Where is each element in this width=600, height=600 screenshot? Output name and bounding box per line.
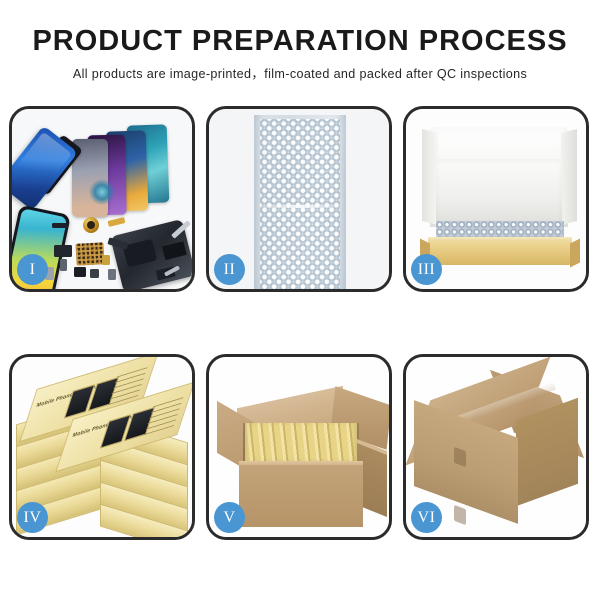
process-steps-grid: I II III [0,106,600,540]
step-panel-6: VI [403,354,589,540]
part-gold-contact-icon [102,255,110,265]
foam-insert-icon [436,159,562,221]
page-subtitle: All products are image-printed，film-coat… [0,63,600,82]
step-badge-5: V [214,502,245,533]
step-image-4: Mobile Phone Spare Parts Mobile Phone Sp… [12,357,192,537]
chip-array-icon [75,242,104,265]
step-badge-4: IV [17,502,48,533]
step-badge-2: II [214,254,245,285]
part-button-icon [60,259,67,271]
part-connector-icon [52,223,68,228]
step-image-3: III [406,109,586,289]
bubble-wrap-pouch-icon [254,115,346,289]
part-camera-icon [74,267,86,277]
step-panel-3: III [403,106,589,292]
pouch-seam [258,205,342,208]
camera-module-icon [83,217,99,233]
part-bracket-icon [54,245,72,257]
step-image-2: II [209,109,389,289]
page-title: PRODUCT PREPARATION PROCESS [0,26,600,56]
step-panel-5: V [206,354,392,540]
step-badge-6: VI [411,502,442,533]
carton-front-panel [239,465,363,527]
step-image-5: V [209,357,389,537]
box-spec-lines [144,395,184,435]
step-badge-1: I [17,254,48,285]
step-panel-2: II [206,106,392,292]
pouch-edge-right [337,115,346,289]
pouch-edge-left [254,115,263,289]
bubble-texture [260,119,340,289]
part-vibrator-icon [90,269,99,278]
step-badge-3: III [411,254,442,285]
step-image-6: VI [406,357,586,537]
step-panel-1: I [9,106,195,292]
page-header: PRODUCT PREPARATION PROCESS All products… [0,0,600,82]
step-image-1: I [12,109,192,289]
step-panel-4: Mobile Phone Spare Parts Mobile Phone Sp… [9,354,195,540]
mailer-front-panel-icon [428,241,572,265]
part-sim-tray-icon [108,269,116,280]
